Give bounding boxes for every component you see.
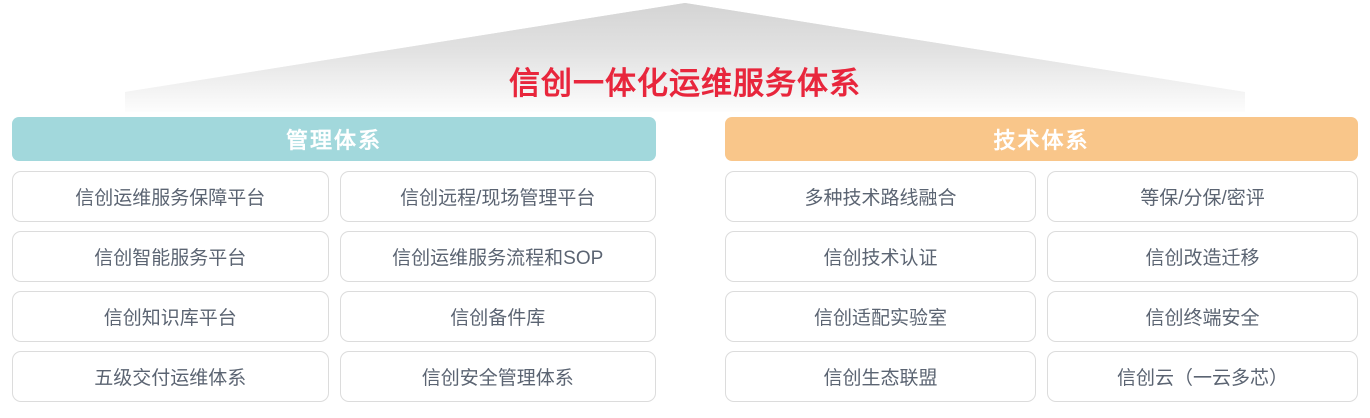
cell-technology-c1-r4[interactable]: 信创生态联盟 [725, 351, 1036, 402]
panel-grid-management: 信创运维服务保障平台 信创远程/现场管理平台 信创智能服务平台 信创运维服务流程… [12, 171, 656, 402]
cell-management-c1-r4[interactable]: 五级交付运维体系 [12, 351, 329, 402]
diagram-title: 信创一体化运维服务体系 [0, 58, 1370, 103]
cell-technology-c1-r2[interactable]: 信创技术认证 [725, 231, 1036, 282]
panel-header-management: 管理体系 [12, 117, 656, 161]
cell-technology-c2-r2[interactable]: 信创改造迁移 [1047, 231, 1358, 282]
cell-management-c2-r2[interactable]: 信创运维服务流程和SOP [340, 231, 657, 282]
cell-management-c2-r1[interactable]: 信创远程/现场管理平台 [340, 171, 657, 222]
panel-technology: 技术体系 多种技术路线融合 等保/分保/密评 信创技术认证 信创改造迁移 信创适… [725, 117, 1358, 402]
cell-management-c2-r3[interactable]: 信创备件库 [340, 291, 657, 342]
cell-technology-c1-r3[interactable]: 信创适配实验室 [725, 291, 1036, 342]
cell-technology-c1-r1[interactable]: 多种技术路线融合 [725, 171, 1036, 222]
panel-management: 管理体系 信创运维服务保障平台 信创远程/现场管理平台 信创智能服务平台 信创运… [12, 117, 656, 402]
panel-grid-technology: 多种技术路线融合 等保/分保/密评 信创技术认证 信创改造迁移 信创适配实验室 … [725, 171, 1358, 402]
cell-technology-c2-r4[interactable]: 信创云（一云多芯） [1047, 351, 1358, 402]
diagram-canvas: 信创一体化运维服务体系 管理体系 信创运维服务保障平台 信创远程/现场管理平台 … [0, 0, 1370, 418]
cell-management-c1-r3[interactable]: 信创知识库平台 [12, 291, 329, 342]
cell-technology-c2-r3[interactable]: 信创终端安全 [1047, 291, 1358, 342]
cell-management-c1-r2[interactable]: 信创智能服务平台 [12, 231, 329, 282]
cell-technology-c2-r1[interactable]: 等保/分保/密评 [1047, 171, 1358, 222]
cell-management-c1-r1[interactable]: 信创运维服务保障平台 [12, 171, 329, 222]
panel-header-technology: 技术体系 [725, 117, 1358, 161]
cell-management-c2-r4[interactable]: 信创安全管理体系 [340, 351, 657, 402]
